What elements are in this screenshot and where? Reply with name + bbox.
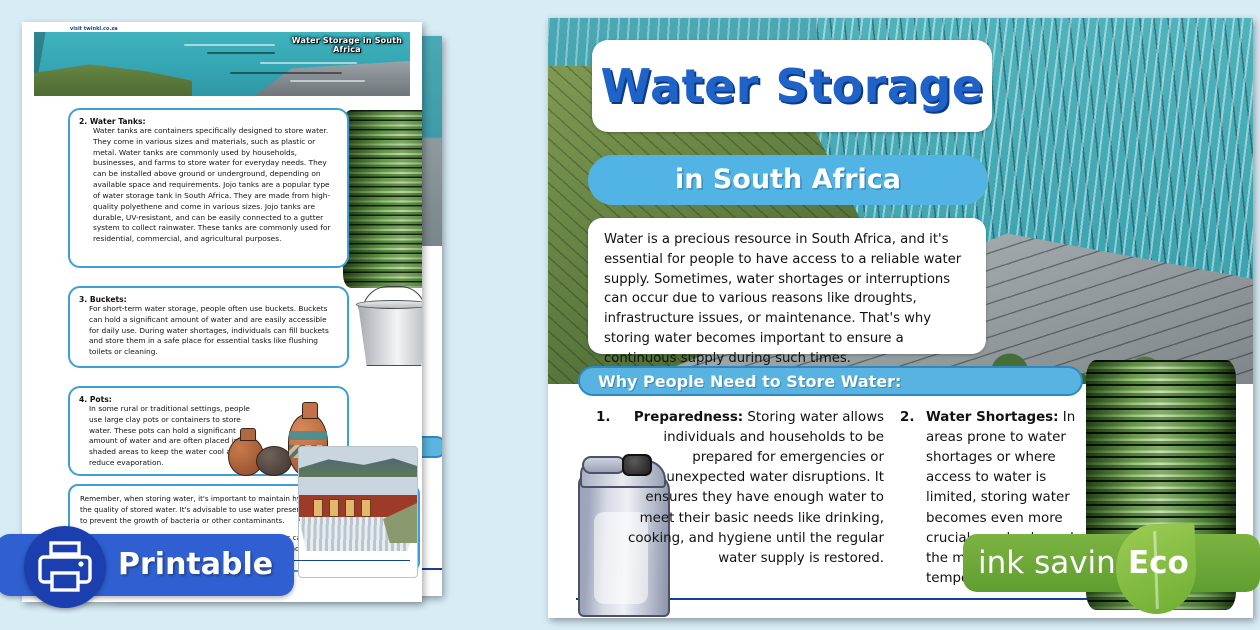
hero-dam-wall [241, 61, 410, 96]
left-document-page: Water Storage in South Africa 2. Water T… [22, 22, 422, 602]
section-3-body: For short-term water storage, people oft… [79, 304, 338, 358]
printable-label: Printable [118, 534, 288, 596]
list-item-2-term: Water Shortages: [926, 410, 1059, 425]
bucket-illustration [352, 290, 422, 368]
list-item-1-term: Preparedness: [634, 410, 743, 425]
section-heading-bar: Why People Need to Store Water: [578, 366, 1083, 396]
list-item-preparedness: 1. Preparedness: Storing water allows in… [596, 408, 884, 569]
left-page-footer-url[interactable]: visit twinkl.co.za [70, 26, 118, 576]
page-subtitle: in South Africa [588, 155, 988, 205]
list-item-1-number: 1. [596, 408, 610, 428]
subtitle-bar: in South Africa [588, 155, 988, 205]
title-card: Water Storage [592, 40, 992, 132]
list-item-2-number: 2. [900, 408, 914, 428]
left-page-header-title: Water Storage in South Africa [277, 36, 417, 54]
intro-paragraph: Water is a precious resource in South Af… [604, 230, 970, 369]
page-title: Water Storage [592, 40, 992, 132]
dam-illustration [298, 446, 418, 578]
printer-icon [24, 526, 106, 608]
water-tank-illustration [343, 110, 422, 288]
section-heading-label: Why People Need to Store Water: [580, 368, 1081, 395]
list-item-1-text: Storing water allows individuals and hou… [628, 410, 884, 566]
section-2-body: Water tanks are containers specifically … [79, 126, 338, 245]
eco-ink-saving-label: ink saving [978, 534, 1138, 592]
screenshot-canvas: he insufficient or le. visit twinkl.co.z… [0, 0, 1260, 630]
eco-word-label: Eco [1128, 534, 1248, 592]
intro-card: Water is a precious resource in South Af… [588, 218, 986, 354]
